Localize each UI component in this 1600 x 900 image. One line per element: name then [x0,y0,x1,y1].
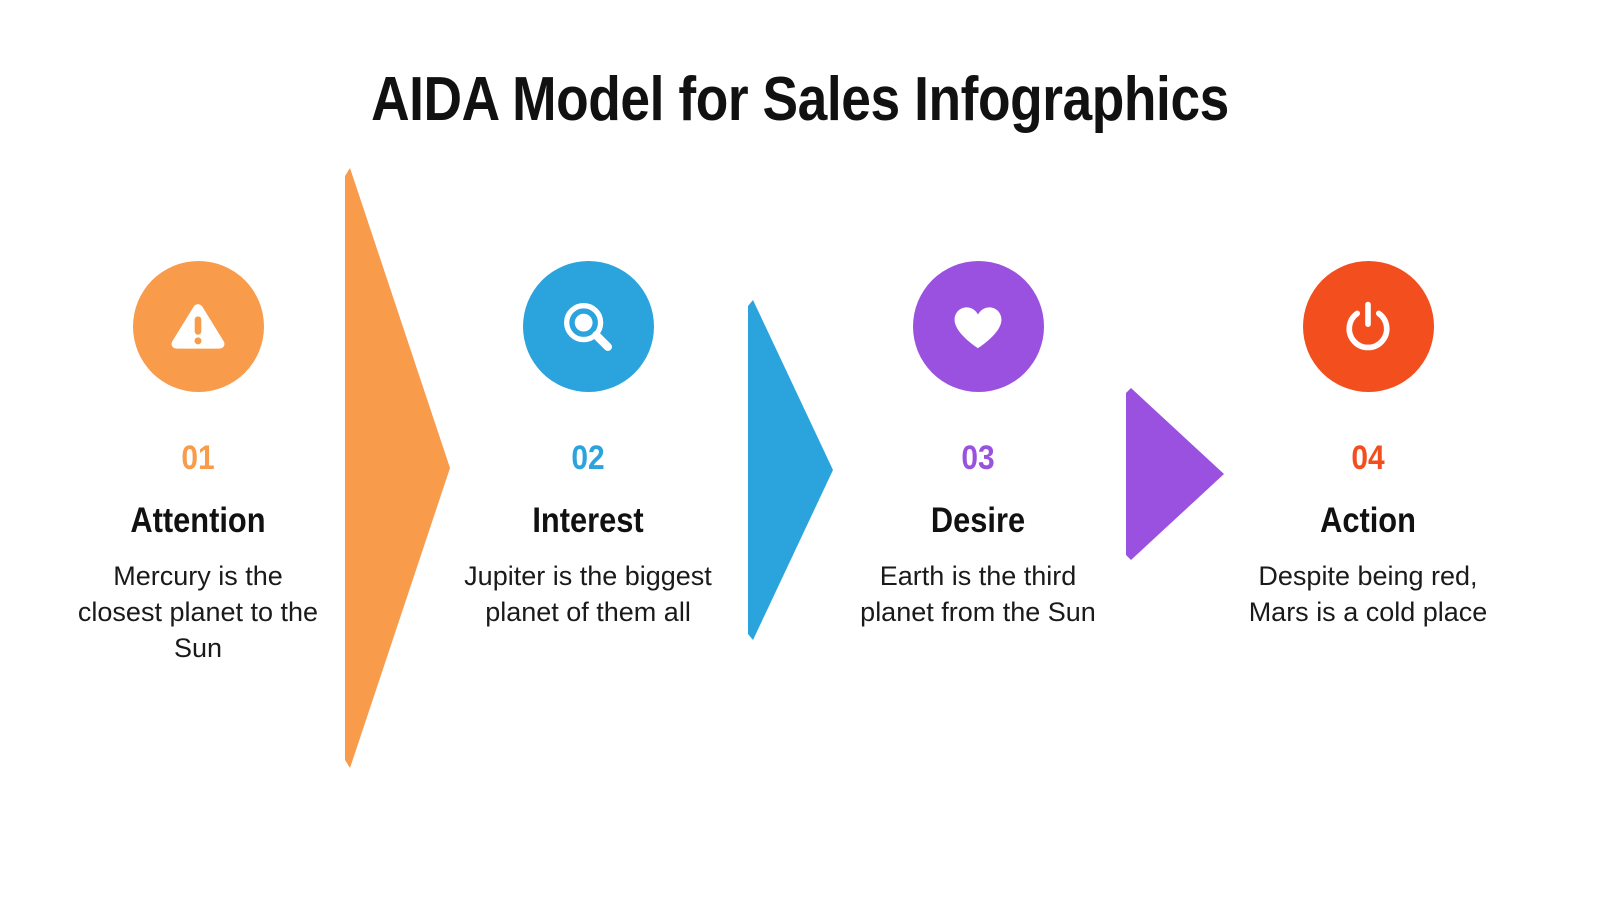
step-interest: 02 Interest Jupiter is the biggest plane… [452,261,724,630]
step-2-description: Jupiter is the biggest planet of them al… [452,558,724,630]
step-2-icon-circle [523,261,654,392]
blue-chevron-shape [748,300,833,640]
warning-triangle-icon [167,296,229,358]
step-3-icon-circle [913,261,1044,392]
step-3-description: Earth is the third planet from the Sun [842,558,1114,630]
purple-chevron-shape [1126,388,1224,560]
step-4-description: Despite being red, Mars is a cold place [1232,558,1504,630]
magnifying-glass-icon [557,296,619,358]
step-1-title: Attention [78,502,317,540]
heart-icon [948,297,1008,357]
step-4-number: 04 [1248,440,1487,476]
step-2-number: 02 [468,440,707,476]
step-4-title: Action [1248,502,1487,540]
step-4-icon-circle [1303,261,1434,392]
step-3-title: Desire [858,502,1097,540]
power-button-icon [1338,297,1398,357]
step-3-number: 03 [858,440,1097,476]
step-2-title: Interest [468,502,707,540]
purple-chevron-arrow [1126,388,1224,560]
step-1-description: Mercury is the closest planet to the Sun [62,558,334,666]
page-title: AIDA Model for Sales Infographics [112,62,1488,138]
step-action: 04 Action Despite being red, Mars is a c… [1232,261,1504,630]
orange-chevron-shape [345,168,450,768]
blue-chevron-arrow [748,300,833,640]
step-1-number: 01 [78,440,317,476]
orange-chevron-arrow [345,168,450,768]
step-1-icon-circle [133,261,264,392]
step-desire: 03 Desire Earth is the third planet from… [842,261,1114,630]
step-attention: 01 Attention Mercury is the closest plan… [62,261,334,666]
infographic-slide: AIDA Model for Sales Infographics [0,0,1600,900]
